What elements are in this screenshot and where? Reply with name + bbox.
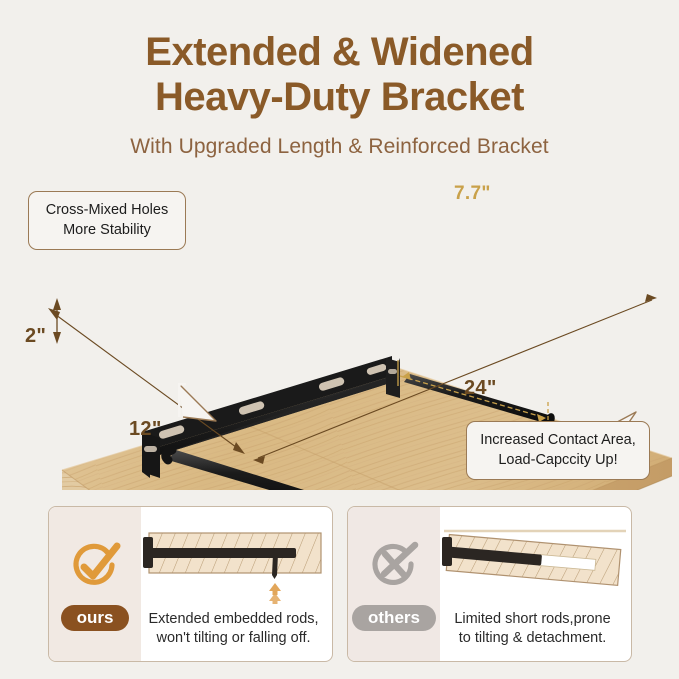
panel-others-illustration-area: Limited short rods,prone to tilting & de…: [440, 507, 631, 661]
others-caption-line-1: Limited short rods,prone: [440, 610, 625, 630]
callout-contact-line-2: Load-Capccity Up!: [479, 451, 637, 471]
ours-cross-section-illustration: [141, 521, 333, 617]
dimension-label-thickness: 2": [25, 325, 46, 348]
headline-line-1: Extended & Widened: [145, 30, 533, 74]
x-circle-icon: [366, 541, 422, 593]
check-circle-icon: [67, 541, 123, 593]
comparison-panel-ours: ours: [48, 506, 333, 662]
callout-holes-line-2: More Stability: [41, 221, 173, 241]
callout-tail-holes: [178, 383, 228, 431]
headline-line-2: Heavy-Duty Bracket: [0, 75, 679, 120]
comparison-panel-others: others: [347, 506, 632, 662]
ours-caption-line-2: won't tilting or falling off.: [141, 629, 326, 649]
panel-ours-caption: Extended embedded rods, won't tilting or…: [141, 610, 326, 649]
panel-others-caption: Limited short rods,prone to tilting & de…: [440, 610, 625, 649]
badge-ours: ours: [61, 605, 130, 631]
ours-caption-line-1: Extended embedded rods,: [141, 610, 326, 630]
panel-ours-illustration-area: Extended embedded rods, won't tilting or…: [141, 507, 332, 661]
page-title: Extended & Widened Heavy-Duty Bracket: [0, 30, 679, 120]
panel-others-badge-area: others: [348, 507, 440, 661]
dimension-label-width: 24": [464, 377, 497, 400]
others-cross-section-illustration: [440, 521, 632, 617]
callout-holes-line-1: Cross-Mixed Holes: [41, 201, 173, 221]
others-caption-line-2: to tilting & detachment.: [440, 629, 625, 649]
callout-increased-contact-area: Increased Contact Area, Load-Capccity Up…: [466, 421, 650, 480]
dimension-label-depth: 12": [129, 418, 162, 441]
page-subtitle: With Upgraded Length & Reinforced Bracke…: [0, 135, 679, 159]
callout-cross-mixed-holes: Cross-Mixed Holes More Stability: [28, 191, 186, 250]
callout-contact-line-1: Increased Contact Area,: [479, 431, 637, 451]
badge-others: others: [352, 605, 436, 631]
panel-ours-badge-area: ours: [49, 507, 141, 661]
dimension-line-thickness: [53, 298, 61, 344]
dimension-label-bracket-arm: 7.7": [454, 183, 491, 205]
infographic-stage: Extended & Widened Heavy-Duty Bracket Wi…: [0, 0, 679, 679]
comparison-section: ours: [0, 500, 679, 670]
